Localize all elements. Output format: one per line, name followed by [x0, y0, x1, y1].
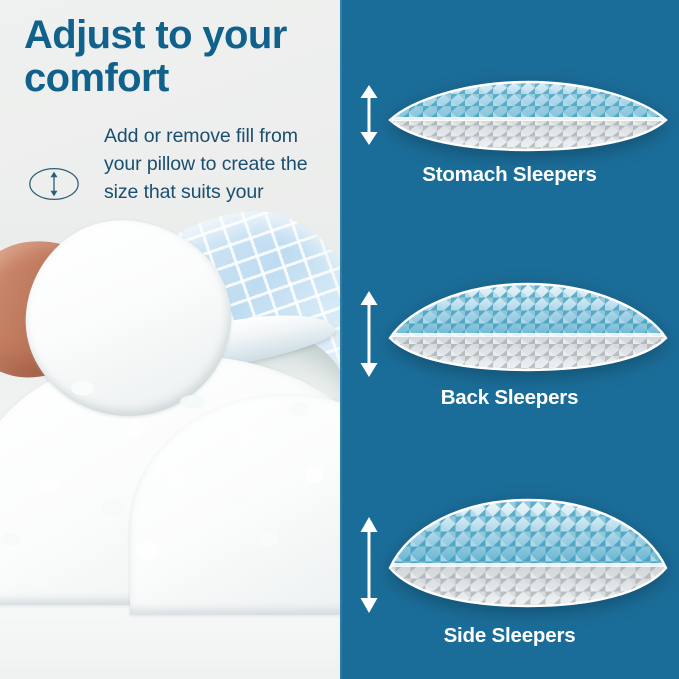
vertical-resize-arrow-icon — [28, 163, 80, 205]
sleeper-label-back: Back Sleepers — [340, 386, 679, 410]
height-arrow-back — [356, 290, 382, 383]
sleeper-label-side: Side Sleepers — [340, 624, 679, 648]
pillow-back — [388, 278, 668, 383]
height-arrow-side — [356, 516, 382, 619]
left-panel: Adjust to your comfort Add or remove fil… — [0, 0, 340, 679]
sleeper-label-stomach: Stomach Sleepers — [340, 163, 679, 187]
pillow-side — [388, 494, 668, 619]
page-title: Adjust to your comfort — [24, 14, 334, 100]
pillow-stomach — [388, 76, 668, 161]
pillow-fill-photo — [0, 205, 340, 679]
height-arrow-stomach — [356, 84, 382, 151]
pillow-loft-infographic: Adjust to your comfort Add or remove fil… — [0, 0, 679, 679]
photo-bottom-fade — [0, 609, 340, 679]
right-panel: Stomach Sleepers — [340, 0, 679, 679]
foam-flecks — [0, 345, 340, 615]
